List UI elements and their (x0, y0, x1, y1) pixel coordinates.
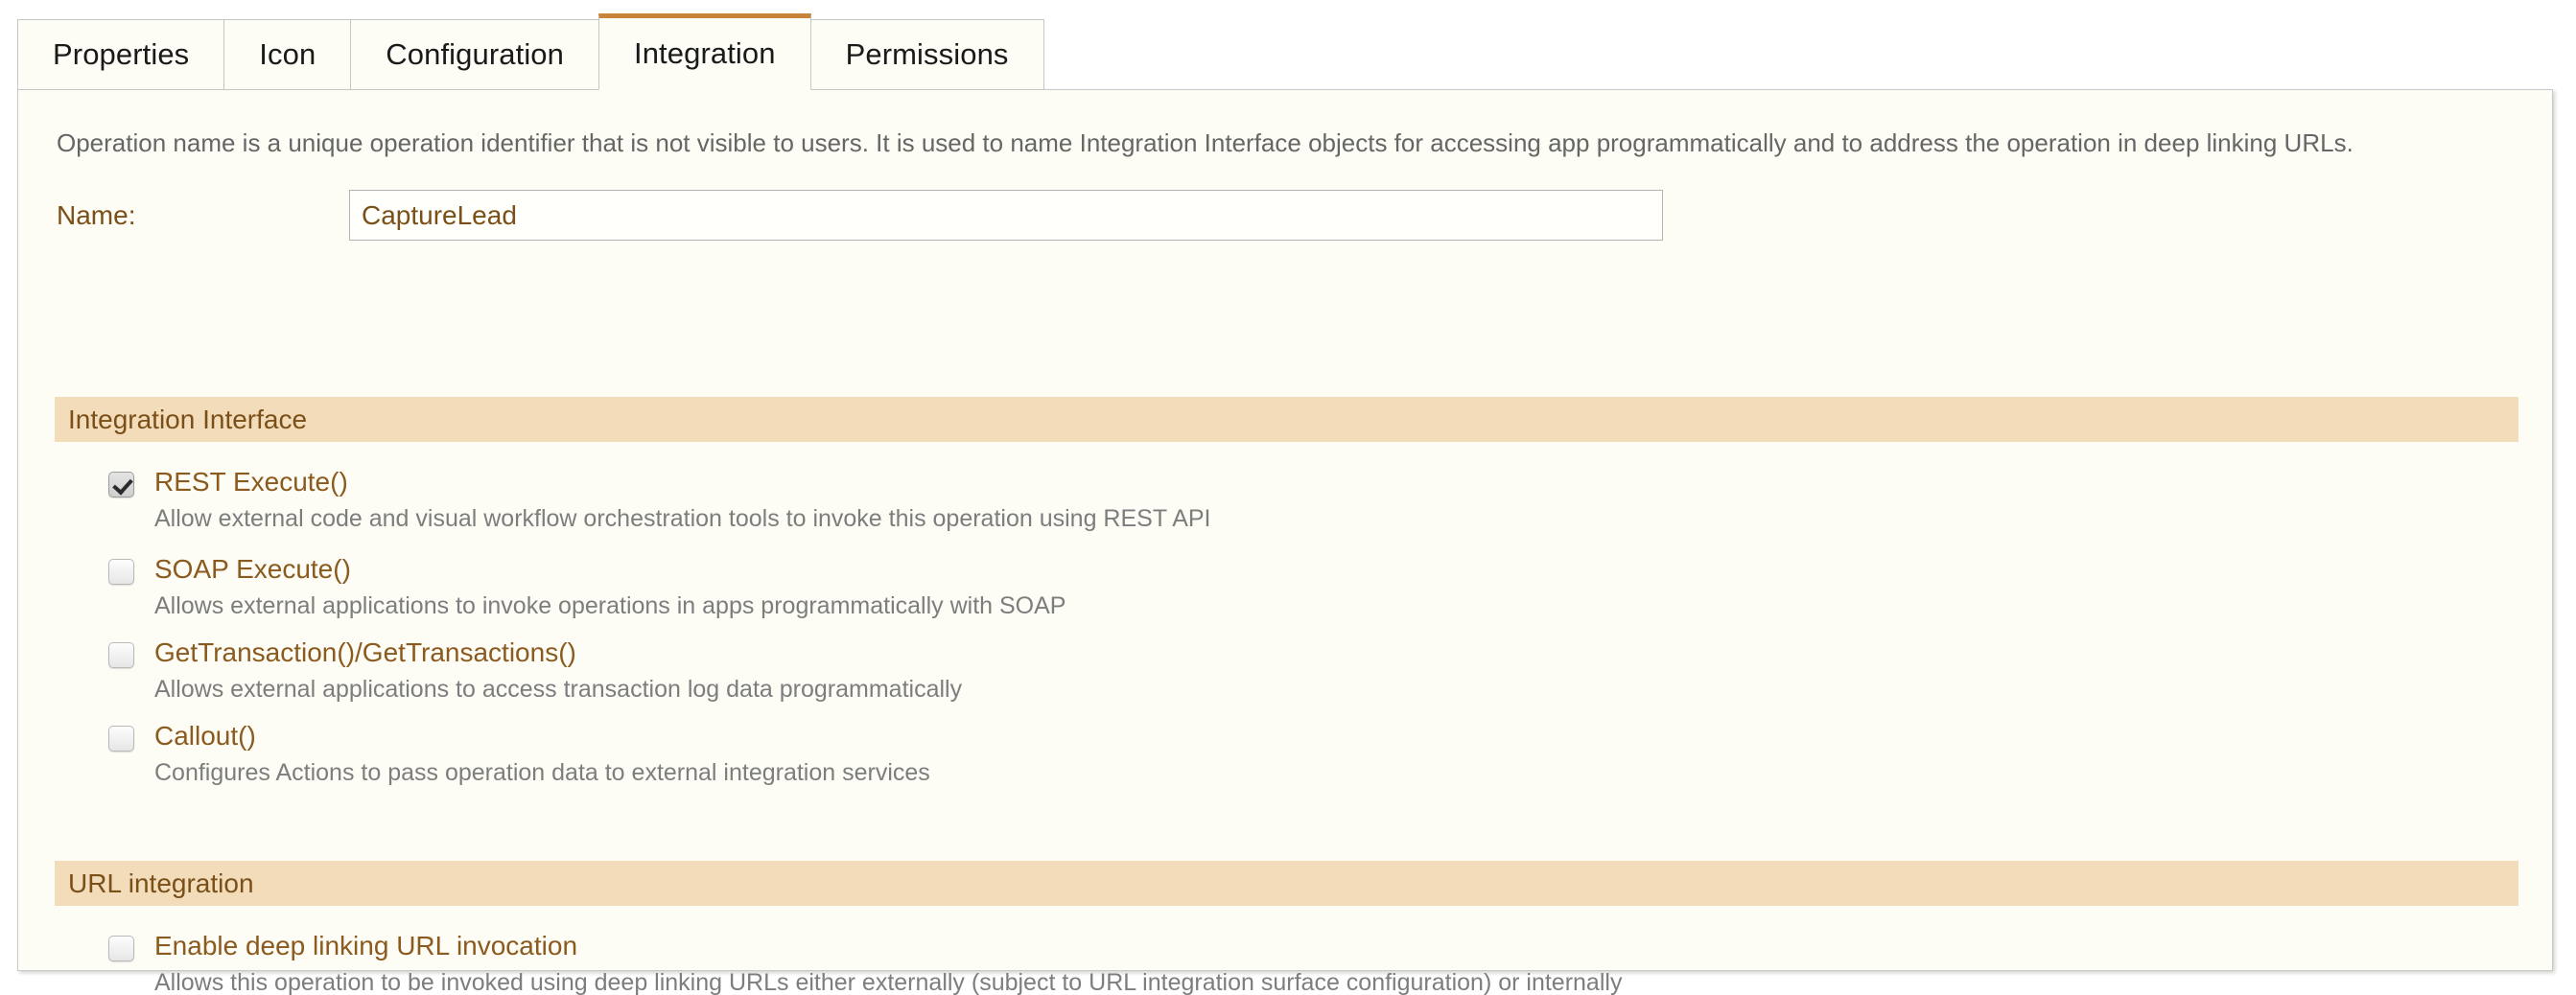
name-label: Name: (57, 200, 349, 231)
option-get-transaction-desc: Allows external applications to access t… (154, 674, 962, 705)
option-callout-text: Callout() Configures Actions to pass ope… (154, 720, 930, 788)
checkbox-callout[interactable] (108, 726, 134, 752)
section-header-integration-interface-label: Integration Interface (68, 405, 307, 435)
option-deep-linking[interactable]: Enable deep linking URL invocation Allow… (108, 930, 1622, 995)
option-soap-execute-title: SOAP Execute() (154, 553, 1066, 586)
tab-permissions[interactable]: Permissions (810, 19, 1044, 90)
section-header-url-integration-label: URL integration (68, 868, 254, 899)
option-callout[interactable]: Callout() Configures Actions to pass ope… (108, 720, 930, 788)
tab-integration[interactable]: Integration (598, 13, 811, 90)
tab-icon[interactable]: Icon (223, 19, 351, 90)
operation-name-input[interactable] (349, 190, 1663, 241)
option-deep-linking-text: Enable deep linking URL invocation Allow… (154, 930, 1622, 995)
tab-configuration-label: Configuration (386, 37, 564, 72)
integration-settings-screen: Properties Icon Configuration Integratio… (0, 0, 2576, 995)
section-header-url-integration: URL integration (55, 861, 2518, 906)
option-soap-execute[interactable]: SOAP Execute() Allows external applicati… (108, 553, 1066, 621)
option-deep-linking-title: Enable deep linking URL invocation (154, 930, 1622, 962)
option-callout-title: Callout() (154, 720, 930, 752)
tab-integration-label: Integration (634, 36, 776, 71)
checkbox-soap-execute[interactable] (108, 559, 134, 585)
option-deep-linking-desc: Allows this operation to be invoked usin… (154, 967, 1622, 995)
checkbox-deep-linking[interactable] (108, 936, 134, 961)
tab-strip: Properties Icon Configuration Integratio… (17, 15, 1043, 90)
option-get-transaction-title: GetTransaction()/GetTransactions() (154, 636, 962, 669)
option-callout-desc: Configures Actions to pass operation dat… (154, 757, 930, 788)
tab-icon-label: Icon (259, 37, 316, 72)
option-rest-execute-text: REST Execute() Allow external code and v… (154, 466, 1211, 534)
option-soap-execute-desc: Allows external applications to invoke o… (154, 590, 1066, 621)
name-row: Name: (57, 190, 1663, 241)
tab-properties-label: Properties (53, 37, 189, 72)
option-rest-execute-desc: Allow external code and visual workflow … (154, 503, 1211, 534)
tab-properties[interactable]: Properties (17, 19, 224, 90)
option-get-transaction-text: GetTransaction()/GetTransactions() Allow… (154, 636, 962, 705)
option-soap-execute-text: SOAP Execute() Allows external applicati… (154, 553, 1066, 621)
checkbox-get-transaction[interactable] (108, 642, 134, 668)
section-header-integration-interface: Integration Interface (55, 397, 2518, 442)
option-rest-execute-title: REST Execute() (154, 466, 1211, 498)
option-rest-execute[interactable]: REST Execute() Allow external code and v… (108, 466, 1211, 534)
panel-intro-text: Operation name is a unique operation ide… (57, 128, 2354, 158)
tab-configuration[interactable]: Configuration (350, 19, 599, 90)
integration-panel: Operation name is a unique operation ide… (17, 89, 2553, 971)
option-get-transaction[interactable]: GetTransaction()/GetTransactions() Allow… (108, 636, 962, 705)
checkbox-rest-execute[interactable] (108, 472, 134, 497)
tab-permissions-label: Permissions (846, 37, 1009, 72)
